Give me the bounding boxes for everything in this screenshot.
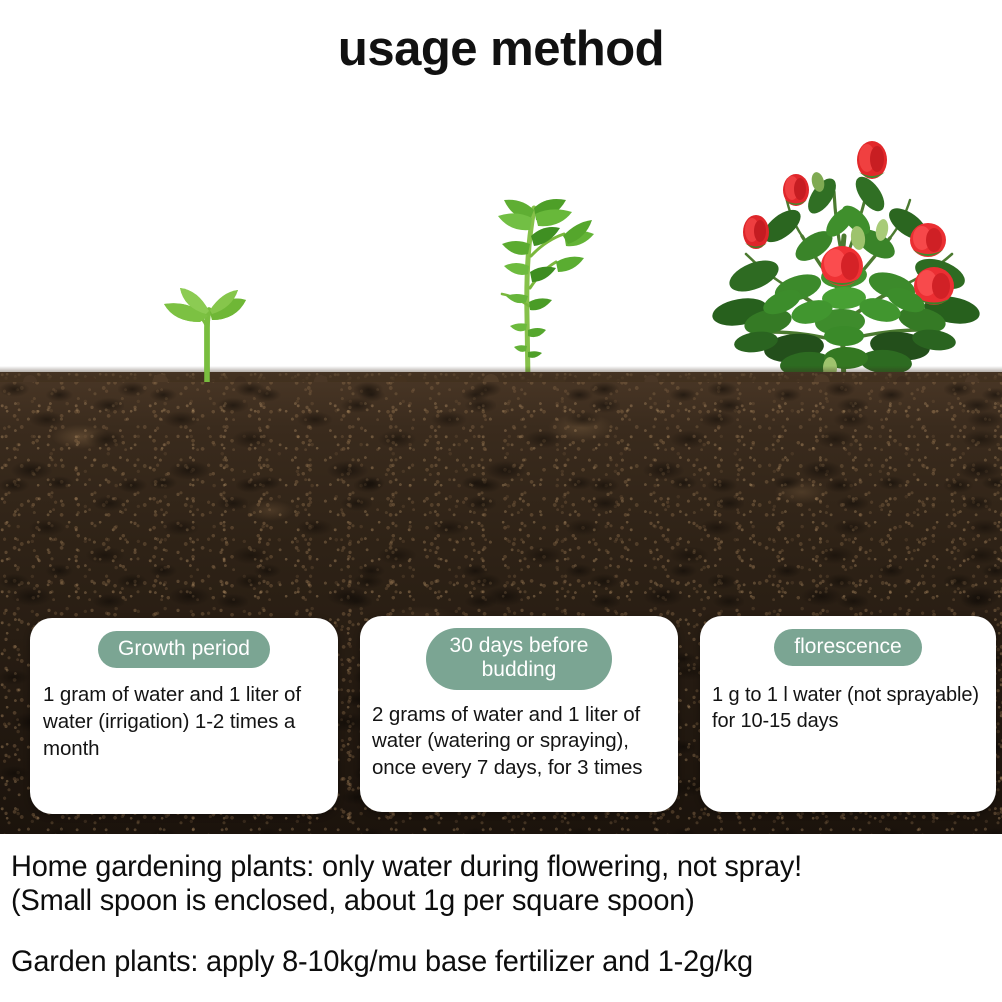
- card-body-text: 1 gram of water and 1 liter of water (ir…: [30, 668, 338, 762]
- usage-method-infographic: usage method: [0, 0, 1002, 1002]
- note-line-2: (Small spoon is enclosed, about 1g per s…: [11, 884, 967, 918]
- badge-wrap: 30 days before budding: [360, 616, 678, 690]
- stage-badge: 30 days before budding: [426, 628, 612, 690]
- card-body-text: 2 grams of water and 1 liter of water (w…: [360, 690, 678, 782]
- plant-young: [468, 196, 608, 382]
- footer-notes: Home gardening plants: only water during…: [0, 836, 1002, 1002]
- stage-badge: florescence: [774, 629, 921, 666]
- note-spacer: [11, 918, 1002, 945]
- info-card-before-budding: 30 days before budding 2 grams of water …: [360, 616, 678, 812]
- info-card-florescence: florescence 1 g to 1 l water (not spraya…: [700, 616, 996, 812]
- badge-wrap: florescence: [700, 616, 996, 666]
- plant-rose-bush: [694, 126, 990, 384]
- stage-badge: Growth period: [98, 631, 270, 668]
- info-card-growth-period: Growth period 1 gram of water and 1 lite…: [30, 618, 338, 814]
- note-line-1: Home gardening plants: only water during…: [11, 850, 967, 884]
- card-body-text: 1 g to 1 l water (not sprayable) for 10-…: [700, 666, 996, 734]
- note-line-3: Garden plants: apply 8-10kg/mu base fert…: [11, 945, 967, 979]
- plant-seedling-overlay: [150, 282, 266, 382]
- badge-wrap: Growth period: [30, 618, 338, 668]
